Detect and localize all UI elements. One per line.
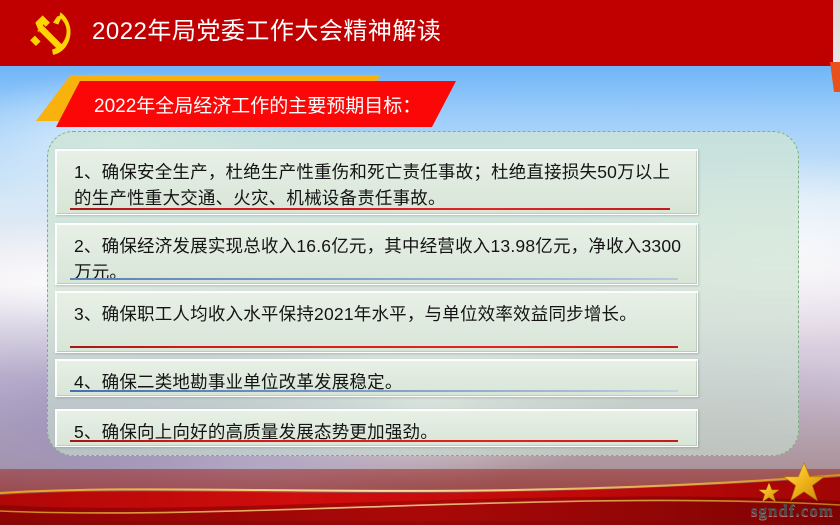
goal-item-underline [70, 346, 678, 348]
goal-item-text: 1、确保安全生产，杜绝生产性重伤和死亡责任事故；杜绝直接损失50万以上的生产性重… [74, 159, 687, 211]
goal-item: 1、确保安全生产，杜绝生产性重伤和死亡责任事故；杜绝直接损失50万以上的生产性重… [55, 149, 698, 215]
goal-item-underline [70, 278, 678, 280]
subtitle-banner: 2022年全局经济工作的主要预期目标： [36, 75, 456, 127]
hammer-and-sickle-emblem [24, 7, 80, 59]
goal-item: 5、确保向上向好的高质量发展态势更加强劲。 [55, 409, 698, 447]
header-title: 2022年局党委工作大会精神解读 [92, 14, 441, 50]
gold-star-large [782, 461, 826, 503]
goal-item-underline [70, 440, 678, 442]
watermark-text: sgndf.com [751, 501, 834, 521]
subtitle-text: 2022年全局经济工作的主要预期目标： [94, 91, 421, 118]
goal-item: 3、确保职工人均收入水平保持2021年水平，与单位效率效益同步增长。 [55, 291, 698, 353]
goal-item: 2、确保经济发展实现总收入16.6亿元，其中经营收入13.98亿元，净收入330… [55, 223, 698, 285]
gold-star-small [758, 482, 780, 503]
red-ribbon-decoration [0, 455, 840, 525]
presentation-slide: 2022年局党委工作大会精神解读 2022年全局经济工作的主要预期目标： 1、确… [0, 0, 840, 525]
goal-item-underline [70, 208, 670, 210]
goal-item-text: 3、确保职工人均收入水平保持2021年水平，与单位效率效益同步增长。 [74, 301, 687, 327]
header-right-strip [833, 0, 840, 66]
header-corner-accent [830, 62, 840, 92]
goal-item-underline [70, 390, 678, 392]
goal-item: 4、确保二类地勘事业单位改革发展稳定。 [55, 359, 698, 397]
header-bar: 2022年局党委工作大会精神解读 [0, 0, 840, 66]
